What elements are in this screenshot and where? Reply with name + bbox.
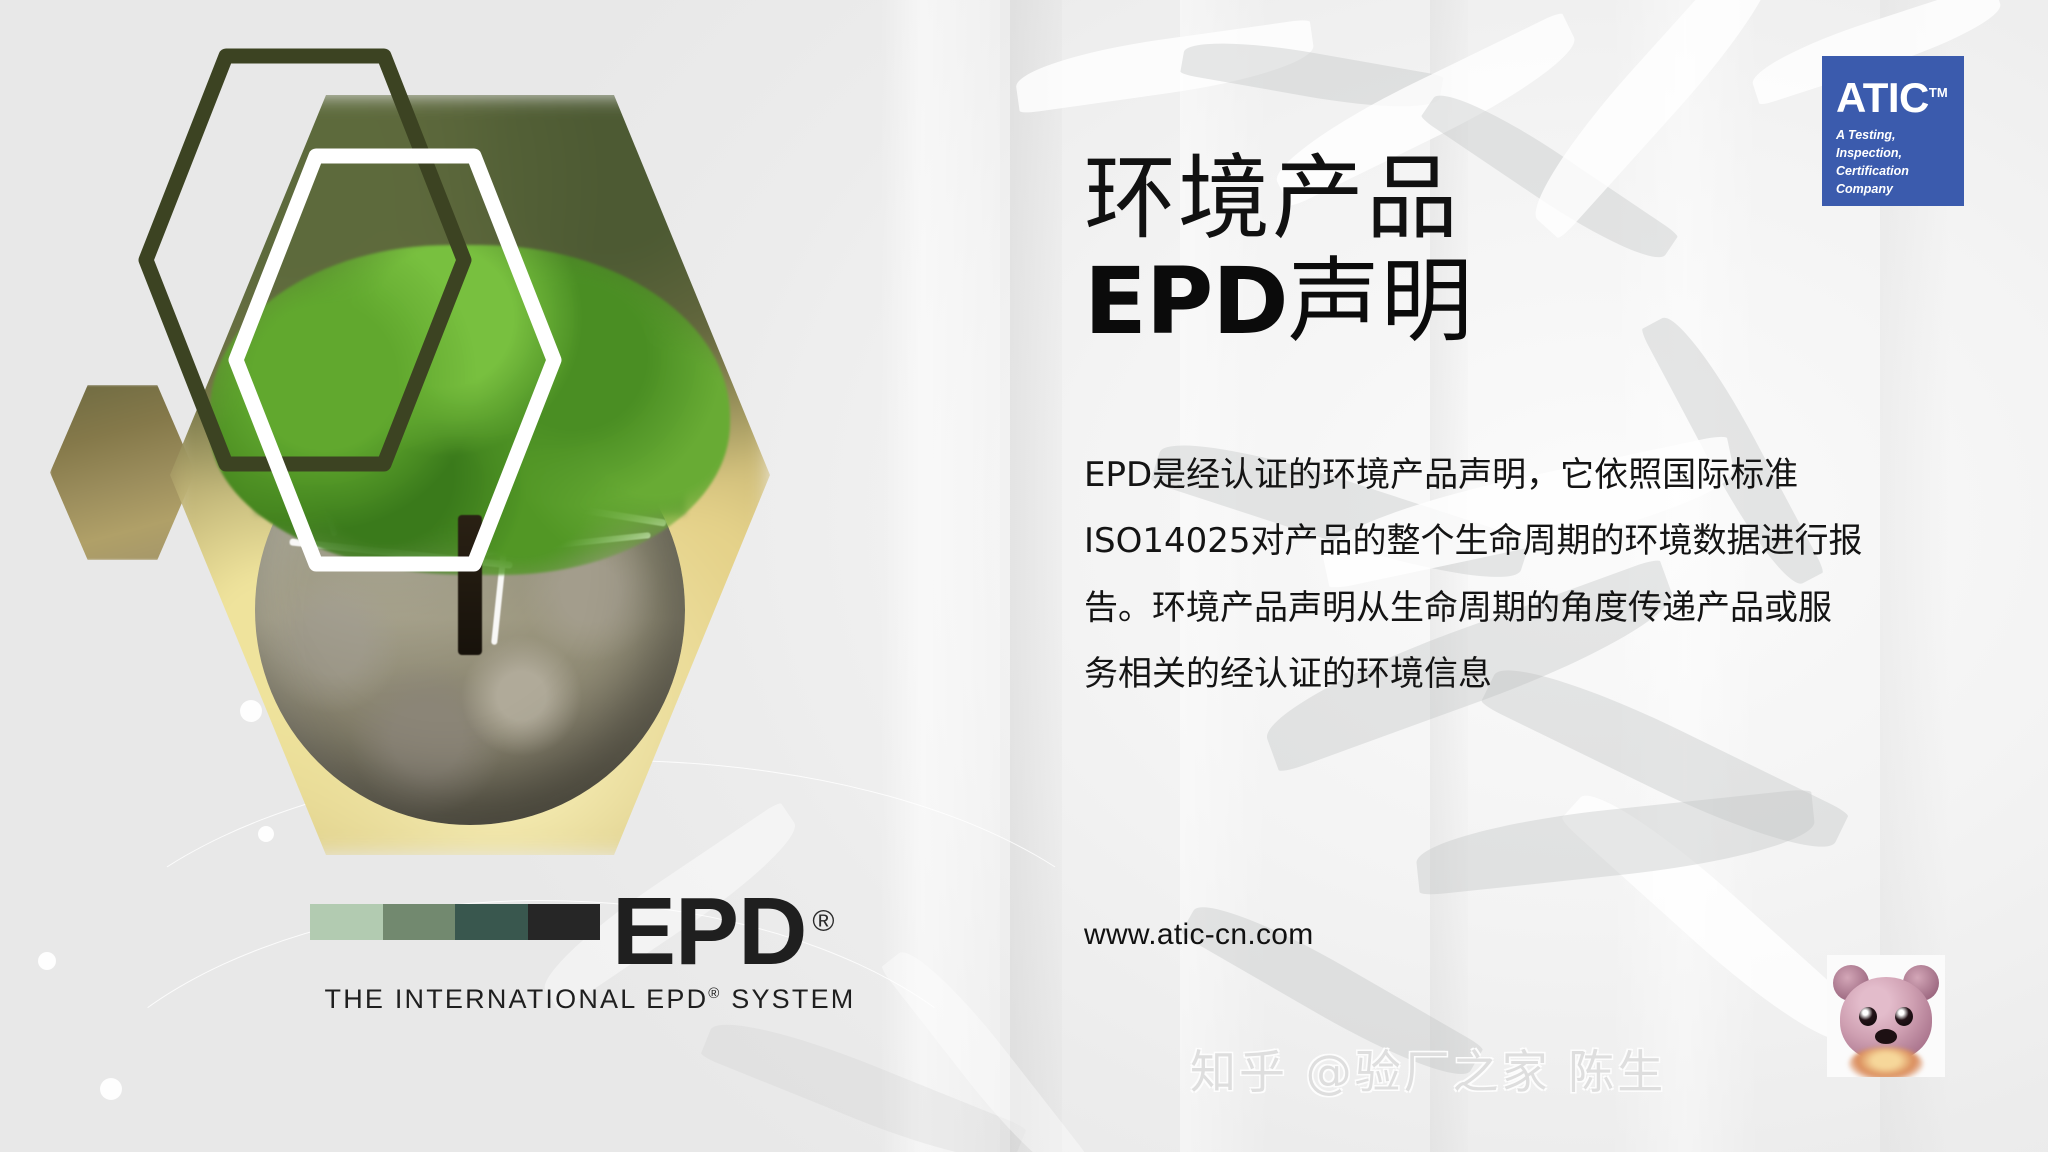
decorative-dot	[38, 952, 56, 970]
bamboo-leaf-icon	[700, 1004, 1027, 1152]
epd-wordmark: EPD®	[612, 895, 834, 970]
atic-wordmark-text: ATIC	[1836, 74, 1929, 121]
bamboo-culm	[1010, 0, 1062, 1152]
bear-nose	[1875, 1029, 1897, 1044]
atic-tagline-line2: Certification Company	[1836, 162, 1954, 198]
trademark-icon: TM	[1929, 85, 1948, 100]
avatar	[1827, 955, 1945, 1077]
epd-wordmark-text: EPD	[612, 878, 806, 985]
page-title-cn: 声明	[1288, 248, 1474, 355]
epd-tagline: THE INTERNATIONAL EPD® SYSTEM	[310, 984, 870, 1015]
atic-wordmark: ATICTM	[1836, 74, 1948, 122]
bamboo-leaf-icon	[880, 938, 1090, 1152]
bamboo-leaf-icon	[1012, 19, 1317, 114]
epd-bar-2	[383, 904, 456, 940]
bear-avatar-icon	[1827, 955, 1945, 1077]
page-title-line2: EPD声明	[1084, 248, 1984, 357]
bear-eye-right	[1895, 1007, 1913, 1026]
bamboo-culm	[880, 0, 1000, 1152]
epd-bar-1	[310, 904, 383, 940]
registered-mark-icon: ®	[812, 905, 833, 938]
zhihu-watermark: 知乎 @验厂之家 陈生	[1190, 1036, 1666, 1102]
atic-tagline: A Testing, Inspection, Certification Com…	[1836, 126, 1954, 199]
paragraph-line: 告。环境产品声明从生命周期的角度传递产品或服	[1084, 575, 1944, 641]
paragraph-line: ISO14025对产品的整个生命周期的环境数据进行报	[1084, 508, 1944, 574]
white-outline-hexagon	[230, 150, 560, 570]
epd-bar-3	[455, 904, 528, 940]
bamboo-leaf-icon	[1560, 775, 1868, 1060]
website-url[interactable]: www.atic-cn.com	[1084, 918, 1314, 952]
epd-bar-4	[528, 904, 601, 940]
epd-tagline-post: SYSTEM	[722, 984, 856, 1014]
epd-tagline-pre: THE INTERNATIONAL EPD	[325, 984, 709, 1014]
paragraph-line: EPD是经认证的环境产品声明，它依照国际标准	[1084, 442, 1944, 508]
slide-canvas: EPD® THE INTERNATIONAL EPD® SYSTEM 环境产品 …	[0, 0, 2048, 1152]
bear-eye-left	[1859, 1007, 1877, 1026]
hero-image	[40, 30, 780, 890]
bamboo-leaf-icon	[1413, 789, 1818, 896]
bamboo-leaf-icon	[1180, 31, 1444, 119]
epd-color-bars	[310, 904, 600, 940]
paragraph-line: 务相关的经认证的环境信息	[1084, 641, 1944, 707]
bear-glow	[1849, 1047, 1923, 1077]
decorative-dot	[100, 1078, 122, 1100]
epd-logo: EPD® THE INTERNATIONAL EPD® SYSTEM	[310, 895, 870, 1015]
epd-tagline-registered-icon: ®	[708, 985, 721, 1002]
page-title-en: EPD	[1084, 248, 1288, 355]
atic-logo: ATICTM A Testing, Inspection, Certificat…	[1822, 56, 1964, 206]
atic-tagline-line1: A Testing, Inspection,	[1836, 126, 1954, 162]
content-column: 环境产品 EPD声明 EPD是经认证的环境产品声明，它依照国际标准 ISO140…	[1084, 150, 1984, 707]
description-paragraph: EPD是经认证的环境产品声明，它依照国际标准 ISO14025对产品的整个生命周…	[1084, 442, 1944, 707]
